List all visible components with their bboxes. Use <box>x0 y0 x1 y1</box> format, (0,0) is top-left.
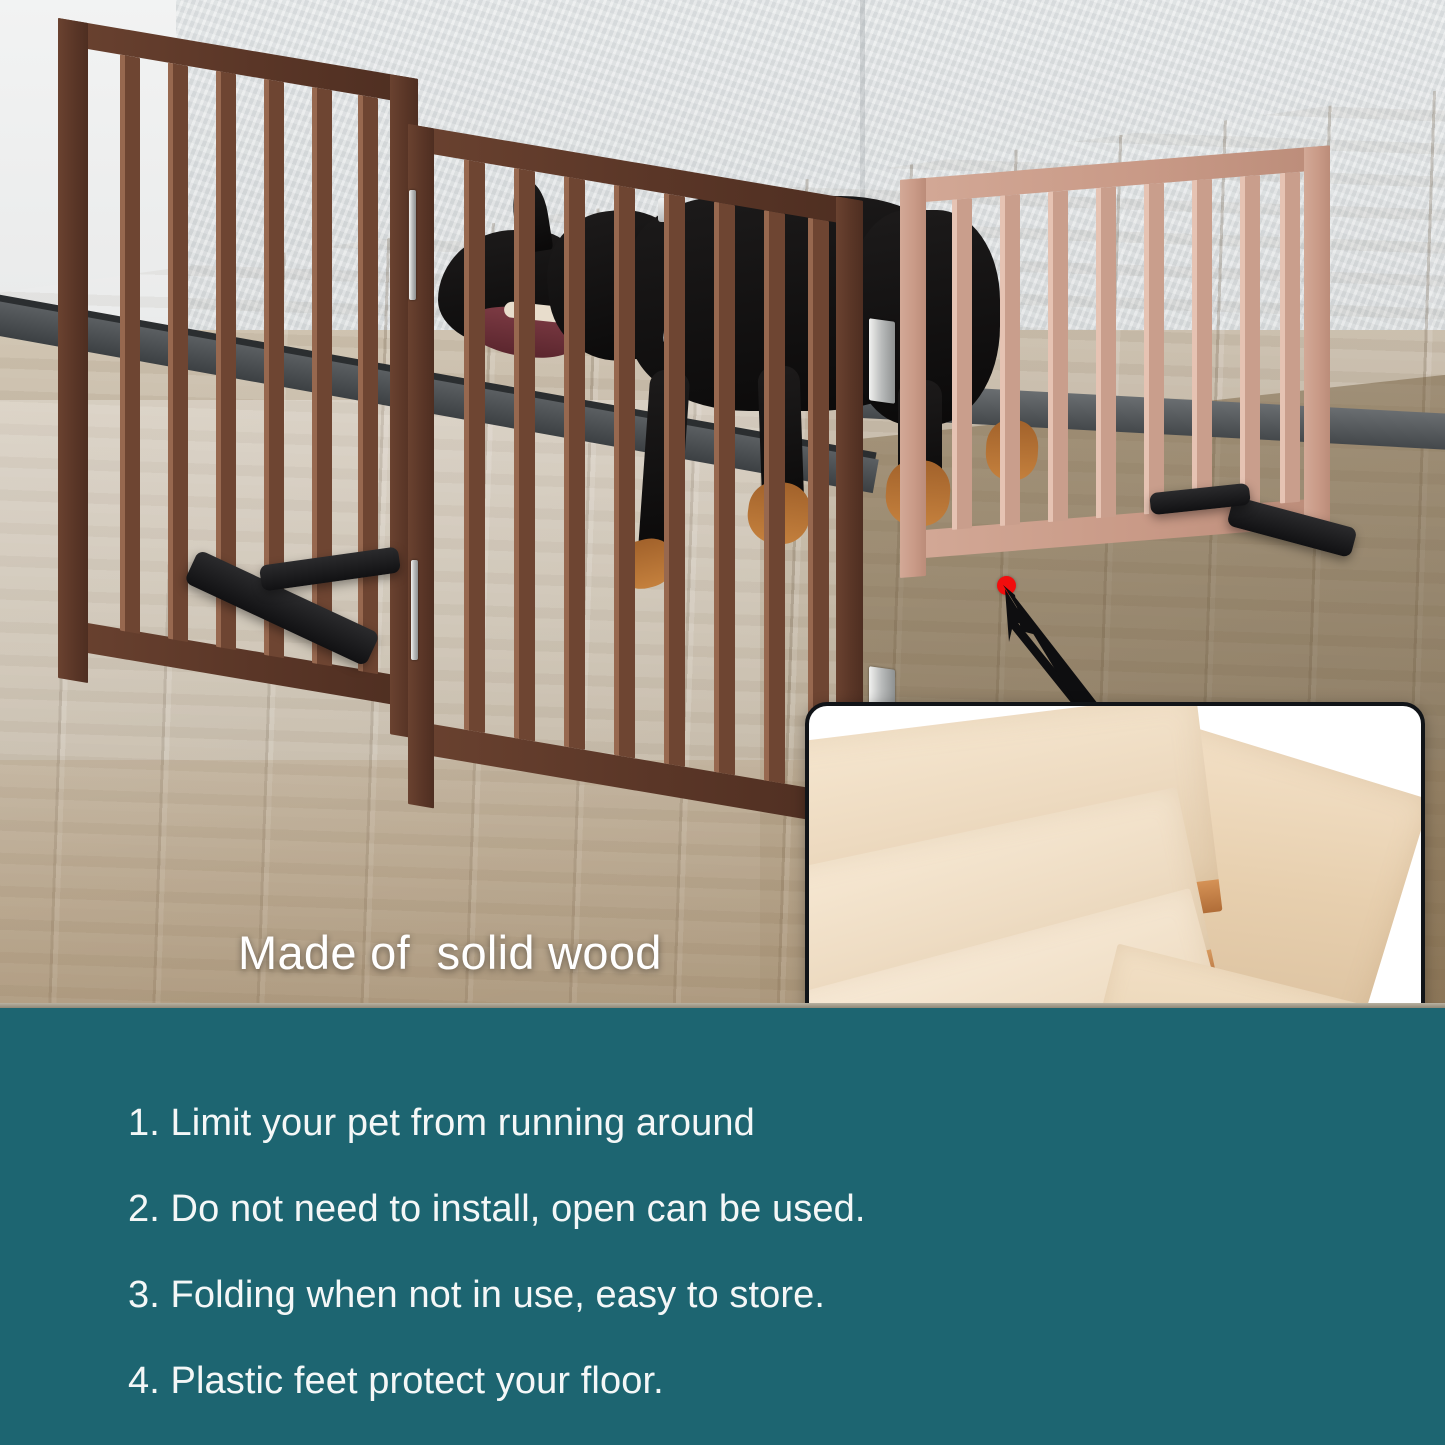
overlay-caption: Made of solid wood <box>238 925 662 980</box>
feature-item: 1. Limit your pet from running around <box>128 1104 1445 1142</box>
panel-slat <box>1192 179 1212 511</box>
panel-slat <box>120 54 140 633</box>
lifestyle-photo: Made of solid wood <box>0 0 1445 1010</box>
panel-slat <box>714 202 735 776</box>
panel-slat <box>764 210 785 784</box>
feature-item: 3. Folding when not in use, easy to stor… <box>128 1276 1445 1314</box>
panel-slat <box>1240 175 1260 507</box>
panel-slat <box>564 176 585 750</box>
feature-item: 2. Do not need to install, open can be u… <box>128 1190 1445 1228</box>
panel-right-stile <box>1304 145 1330 545</box>
panel-slat <box>1000 194 1020 526</box>
panel-slat <box>952 198 972 530</box>
silver-folding-hinge <box>409 190 416 300</box>
panel-slat <box>1144 183 1164 515</box>
panel-slat <box>664 193 685 767</box>
panel-left-stile <box>58 18 88 683</box>
panel-slat <box>614 185 635 759</box>
panel-slat <box>1096 187 1116 519</box>
gate-middle-panel <box>408 124 863 881</box>
panel-left-stile <box>900 178 926 578</box>
panel-slat <box>358 95 378 674</box>
panel-slat <box>464 159 485 733</box>
panel-slat <box>514 168 535 742</box>
feature-item: 4. Plastic feet protect your floor. <box>128 1362 1445 1400</box>
silver-folding-hinge <box>411 560 418 660</box>
panel-slat <box>1048 190 1068 522</box>
product-image: Made of solid wood <box>0 0 1445 1445</box>
panel-slat <box>1280 172 1300 504</box>
panel-bottom-rail <box>408 720 863 829</box>
features-band: 1. Limit your pet from running around 2.… <box>0 1008 1445 1445</box>
panel-slat <box>168 63 188 642</box>
silver-folding-hinge <box>869 318 895 404</box>
solid-wood-boards-inset <box>805 702 1425 1010</box>
